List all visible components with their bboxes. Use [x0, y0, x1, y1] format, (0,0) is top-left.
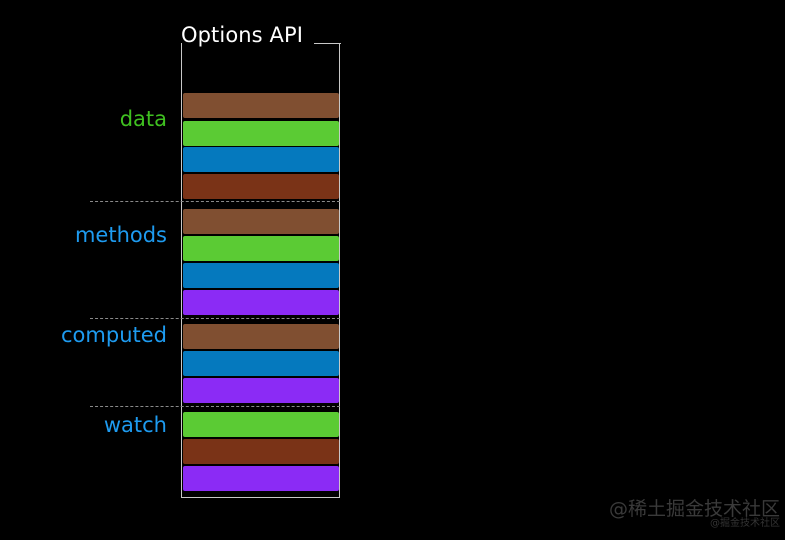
code-bar — [183, 236, 339, 261]
watermark-text: @稀土掘金技术社区 — [600, 498, 780, 520]
watermark-subtext: @掘金技术社区 — [600, 518, 780, 530]
code-bar — [183, 93, 339, 118]
group-separator — [90, 201, 340, 202]
code-bar — [183, 412, 339, 437]
code-bar — [183, 439, 339, 464]
code-bar — [183, 466, 339, 491]
code-bar — [183, 290, 339, 315]
group-label-computed: computed — [61, 323, 167, 347]
code-bar — [183, 324, 339, 349]
code-bar — [183, 121, 339, 146]
diagram-canvas: Options API datamethodscomputedwatch @稀土… — [0, 0, 785, 540]
code-bar — [183, 147, 339, 172]
code-bar — [183, 351, 339, 376]
code-bar — [183, 378, 339, 403]
group-label-data: data — [120, 107, 167, 131]
group-separator — [90, 318, 340, 319]
group-separator — [90, 406, 340, 407]
group-label-methods: methods — [75, 223, 167, 247]
code-bar — [183, 174, 339, 199]
group-label-watch: watch — [104, 413, 167, 437]
code-bar — [183, 209, 339, 234]
code-bar — [183, 263, 339, 288]
